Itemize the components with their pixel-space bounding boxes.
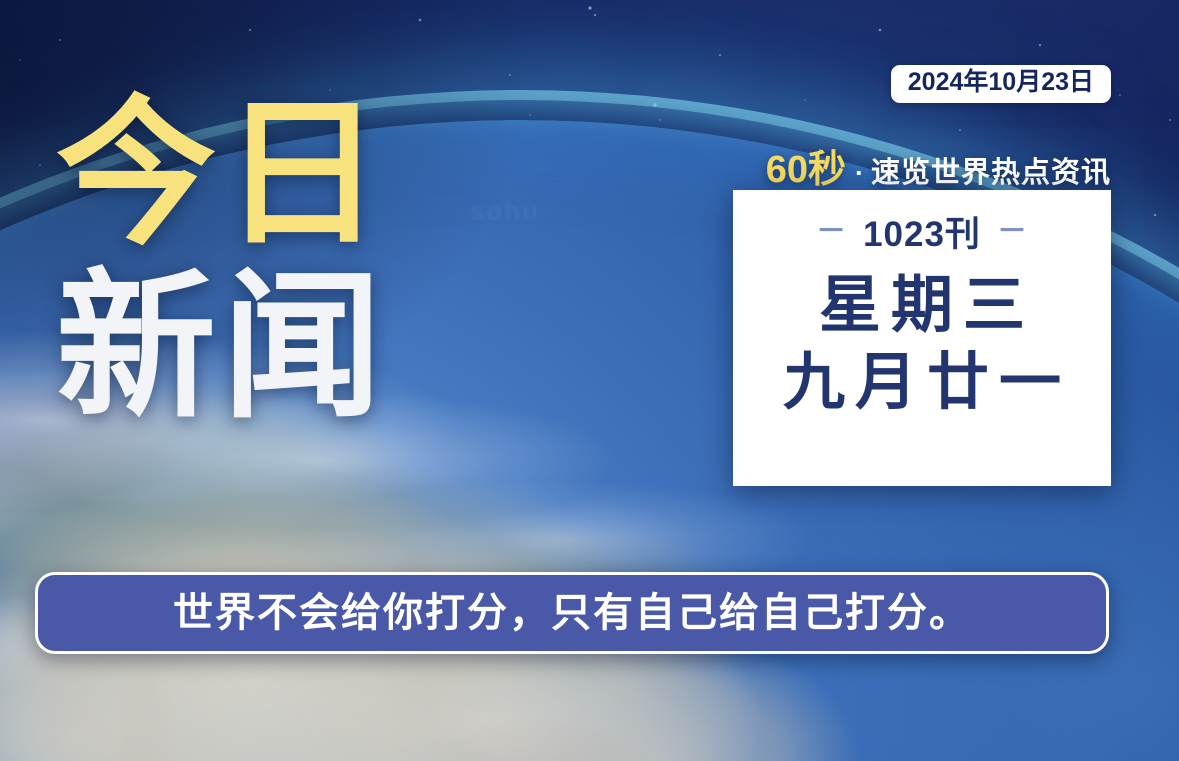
quote-text: 世界不会给你打分，只有自己给自己打分。	[173, 593, 971, 633]
title-line-news: 新闻	[56, 269, 476, 426]
issue-dash-right-icon: －	[997, 217, 1028, 247]
title-line-today: 今日	[56, 96, 476, 253]
weekday-label: 星期三	[809, 273, 1035, 338]
issue-number: 1023刊	[863, 206, 981, 257]
lunar-date-label: 九月廿一	[773, 350, 1071, 415]
watermark-text: sohu	[470, 196, 540, 227]
quote-bar: 世界不会给你打分，只有自己给自己打分。	[35, 572, 1109, 654]
date-info-card: － 1023刊 － 星期三 九月廿一	[733, 190, 1111, 486]
date-badge: 2024年10月23日	[891, 65, 1111, 103]
tagline-separator: ·	[855, 158, 864, 189]
tagline-seconds: 60秒	[766, 138, 846, 193]
poster-title: 今日 新闻	[56, 96, 476, 426]
tagline: 60秒 · 速览世界热点资讯	[766, 138, 1111, 193]
news-poster: sohu 今日 新闻 2024年10月23日 60秒 · 速览世界热点资讯 － …	[0, 0, 1179, 761]
issue-dash-left-icon: －	[816, 217, 847, 247]
tagline-description: 速览世界热点资讯	[871, 149, 1111, 191]
issue-row: － 1023刊 －	[816, 206, 1028, 257]
